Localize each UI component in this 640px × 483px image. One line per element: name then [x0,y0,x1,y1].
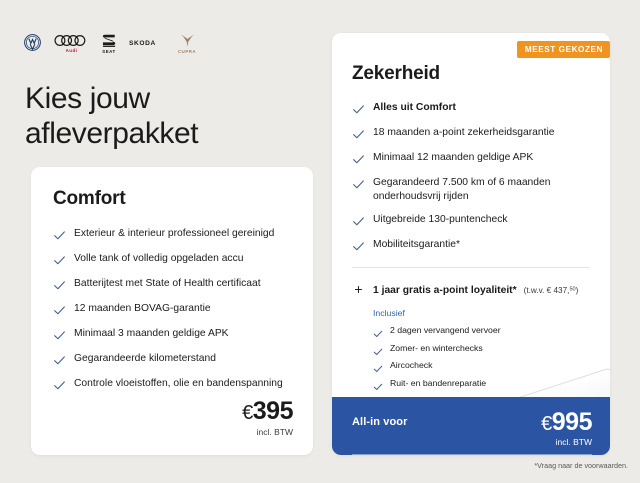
bonus-label: 1 jaar gratis a-point loyaliteit* [373,285,517,296]
zekerheid-vat-note: incl. BTW [541,437,592,447]
check-icon [53,354,66,367]
seat-logo: SEAT [102,33,116,54]
list-item: 18 maanden a-point zekerheidsgarantie [352,126,592,141]
check-icon [352,240,365,253]
inclusief-text: Ruit- en bandenreparatie [390,378,486,389]
list-item: Batterijtest met State of Health certifi… [53,277,293,292]
inclusief-text: Aircocheck [390,360,433,371]
list-item: Mobiliteitsgarantie* [352,238,592,253]
plus-icon: + [352,282,365,296]
feature-text: Gegarandeerd 7.500 km of 6 maanden onder… [373,176,592,203]
price-value: 995 [552,408,592,436]
feature-text: Uitgebreide 130-puntencheck [373,213,508,227]
inclusief-list: 2 dagen vervangend vervoer Zomer- en win… [373,325,592,389]
status-badge: MEEST GEKOZEN [517,41,610,58]
list-item: Minimaal 12 maanden geldige APK [352,151,592,166]
footer-rule [352,454,592,455]
skoda-logo: SKODA [129,38,165,49]
disclaimer-note: *Vraag naar de voorwaarden. [534,461,628,470]
feature-text: Exterieur & interieur professioneel gere… [74,227,274,241]
list-item: Controle vloeistoffen, olie en bandenspa… [53,377,293,392]
audi-logo: Audi [54,34,89,53]
skoda-wordmark-icon: SKODA [129,38,165,48]
feature-text: Volle tank of volledig opgeladen accu [74,252,243,266]
brand-logo-strip: Audi SEAT SKODA CUPRA [24,30,196,56]
bonus-value-prefix: (t.w.v. € 437, [524,286,570,295]
bonus-row: + 1 jaar gratis a-point loyaliteit* (t.w… [352,281,592,296]
feature-text: Controle vloeistoffen, olie en bandenspa… [74,377,283,391]
check-icon [53,329,66,342]
seat-caption: SEAT [102,49,115,54]
check-icon [53,279,66,292]
bonus-value: (t.w.v. € 437,50) [524,286,579,295]
check-icon [352,103,365,116]
currency-symbol: € [541,413,552,435]
list-item: 12 maanden BOVAG-garantie [53,302,293,317]
inclusief-block: Inclusief 2 dagen vervangend vervoer Zom… [352,308,592,389]
comfort-title: Comfort [53,188,293,210]
check-icon [352,215,365,228]
feature-text: 12 maanden BOVAG-garantie [74,302,211,316]
svg-text:SKODA: SKODA [129,40,156,47]
check-icon [53,229,66,242]
check-icon [53,254,66,267]
comfort-price: €395 [242,399,293,424]
audi-rings-icon [54,34,89,47]
list-item: Aircocheck [373,360,592,371]
comfort-price-block: €395 incl. BTW [242,399,293,437]
feature-text: Batterijtest met State of Health certifi… [74,277,261,291]
audi-caption: Audi [66,48,78,53]
comfort-vat-note: incl. BTW [242,427,293,437]
list-item: 2 dagen vervangend vervoer [373,325,592,336]
list-item: Alles uit Comfort [352,101,592,116]
cupra-logo: CUPRA [178,33,196,54]
feature-text: Mobiliteitsgarantie* [373,238,460,252]
feature-text: 18 maanden a-point zekerheidsgarantie [373,126,554,140]
check-icon [53,379,66,392]
check-icon [373,326,383,336]
feature-text: Minimaal 12 maanden geldige APK [373,151,533,165]
feature-text: Minimaal 3 maanden geldige APK [74,327,229,341]
volkswagen-icon [24,34,41,51]
cupra-caption: CUPRA [178,49,196,54]
afleverpakket-page: Audi SEAT SKODA CUPRA Kies jouw afleverp… [0,0,640,483]
list-item: Zomer- en winterchecks [373,343,592,354]
package-card-zekerheid[interactable]: MEEST GEKOZEN Zekerheid Alles uit Comfor… [332,33,610,455]
page-title: Kies jouw afleverpakket [25,82,295,152]
bonus-value-suffix: ) [576,286,579,295]
zekerheid-price-block: €995 incl. BTW [541,410,592,447]
cupra-emblem-icon [179,33,196,48]
volkswagen-logo [24,34,41,52]
section-divider [352,267,590,268]
list-item: Minimaal 3 maanden geldige APK [53,327,293,342]
list-item: Gegarandeerde kilometerstand [53,352,293,367]
comfort-feature-list: Exterieur & interieur professioneel gere… [53,227,293,392]
allin-price-bar: All-in voor €995 incl. BTW [332,397,610,455]
check-icon [352,178,365,191]
inclusief-text: 2 dagen vervangend vervoer [390,325,501,336]
list-item: Uitgebreide 130-puntencheck [352,213,592,228]
check-icon [352,128,365,141]
price-value: 395 [253,397,293,425]
check-icon [373,361,383,371]
list-item: Exterieur & interieur professioneel gere… [53,227,293,242]
check-icon [373,379,383,389]
zekerheid-price: €995 [541,410,592,435]
check-icon [352,153,365,166]
feature-text: Alles uit Comfort [373,101,456,115]
seat-s-icon [102,33,116,48]
inclusief-text: Zomer- en winterchecks [390,343,483,354]
currency-symbol: € [242,402,253,424]
package-card-comfort[interactable]: Comfort Exterieur & interieur profession… [31,167,313,455]
list-item: Volle tank of volledig opgeladen accu [53,252,293,267]
zekerheid-feature-list: Alles uit Comfort 18 maanden a-point zek… [352,101,592,253]
inclusief-title: Inclusief [373,308,592,318]
zekerheid-title: Zekerheid [352,63,592,85]
list-item: Gegarandeerd 7.500 km of 6 maanden onder… [352,176,592,203]
feature-text: Gegarandeerde kilometerstand [74,352,216,366]
allin-label: All-in voor [352,410,408,428]
check-icon [373,344,383,354]
check-icon [53,304,66,317]
